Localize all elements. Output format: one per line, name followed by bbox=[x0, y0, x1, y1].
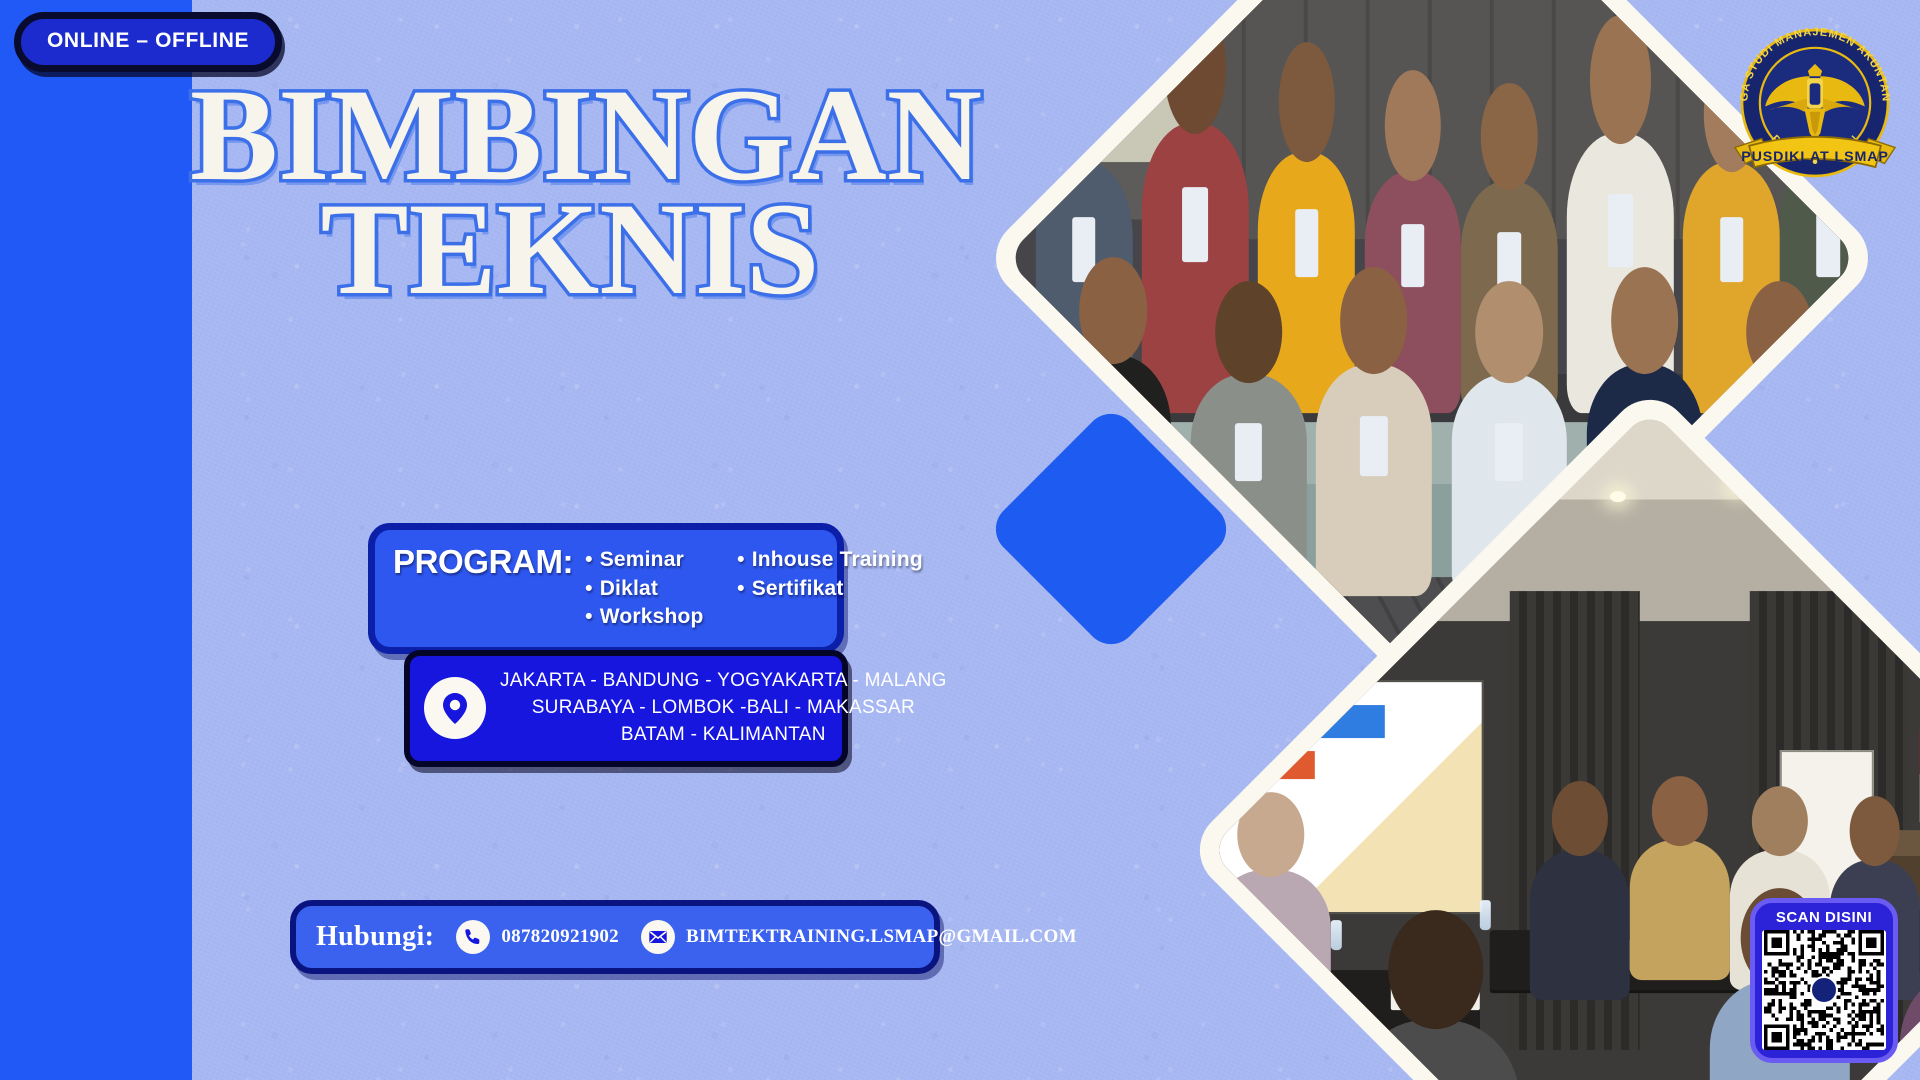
program-column-right: Inhouse Training Sertifikat bbox=[737, 546, 927, 631]
location-line: BATAM - KALIMANTAN bbox=[500, 722, 947, 749]
title-line-2: TEKNIS bbox=[190, 192, 950, 306]
location-line: SURABAYA - LOMBOK -BALI - MAKASSAR bbox=[500, 695, 947, 722]
left-blue-stripe bbox=[0, 0, 192, 1080]
phone-contact[interactable]: 087820921902 bbox=[456, 920, 619, 954]
poster-canvas: ONLINE – OFFLINE BIMBINGAN TEKNIS bbox=[0, 0, 1920, 1080]
qr-center-emblem bbox=[1810, 976, 1838, 1004]
location-text: JAKARTA - BANDUNG - YOGYAKARTA - MALANG … bbox=[500, 668, 947, 749]
program-item: Seminar bbox=[585, 546, 727, 574]
organisation-logo: LEMBAGA STUDI MANAJEMEN AKUNTANSI DAN PE… bbox=[1726, 14, 1904, 192]
program-column-left: Seminar Diklat Workshop bbox=[585, 546, 727, 631]
email-contact[interactable]: BIMTEKTRAINING.LSMAP@GMAIL.COM bbox=[641, 920, 1077, 954]
location-panel: JAKARTA - BANDUNG - YOGYAKARTA - MALANG … bbox=[404, 650, 848, 767]
qr-code[interactable] bbox=[1762, 930, 1886, 1050]
program-panel: PROGRAM: Seminar Diklat Workshop Inhouse… bbox=[368, 523, 844, 654]
program-label: PROGRAM: bbox=[393, 544, 573, 580]
email-address: BIMTEKTRAINING.LSMAP@GMAIL.COM bbox=[686, 926, 1077, 948]
program-item: Diklat bbox=[585, 575, 727, 603]
logo-ribbon-text: PUSDIKLAT LSMAP bbox=[1741, 149, 1889, 165]
envelope-icon bbox=[641, 920, 675, 954]
program-item: Sertifikat bbox=[737, 575, 927, 603]
program-columns: Seminar Diklat Workshop Inhouse Training… bbox=[585, 544, 927, 631]
qr-panel[interactable]: SCAN DISINI bbox=[1750, 898, 1898, 1063]
qr-caption: SCAN DISINI bbox=[1762, 909, 1886, 926]
program-item: Inhouse Training bbox=[737, 546, 927, 574]
location-line: JAKARTA - BANDUNG - YOGYAKARTA - MALANG bbox=[500, 668, 947, 695]
page-title: BIMBINGAN TEKNIS bbox=[190, 78, 950, 305]
program-item: Workshop bbox=[585, 603, 727, 631]
contact-bar: Hubungi: 087820921902 BIMTEKTRAINING.LSM… bbox=[290, 900, 940, 974]
phone-number: 087820921902 bbox=[501, 926, 619, 948]
contact-label: Hubungi: bbox=[316, 921, 434, 953]
map-pin-icon bbox=[424, 677, 486, 739]
phone-icon bbox=[456, 920, 490, 954]
